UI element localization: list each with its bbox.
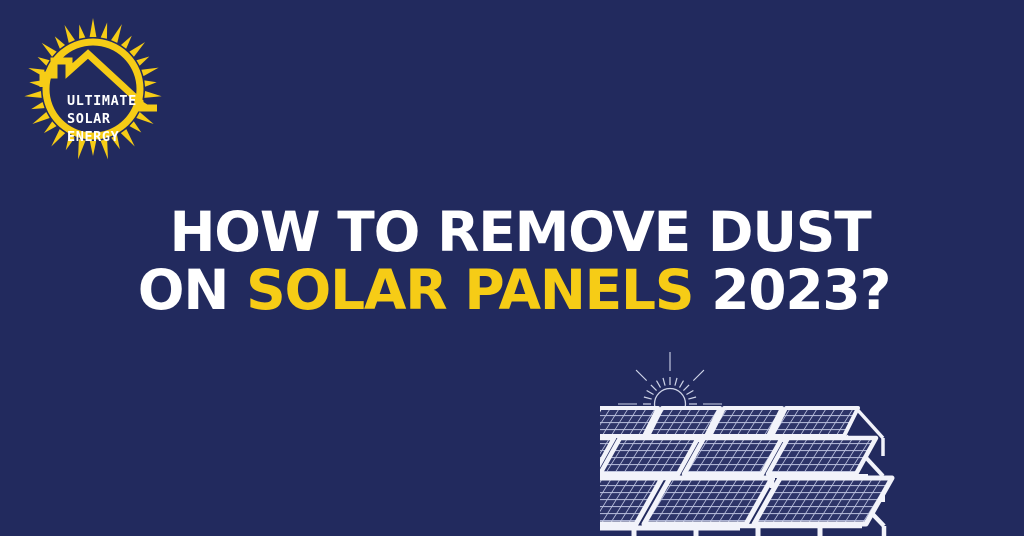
solar-panel bbox=[648, 408, 720, 436]
headline-accent: SOLAR PANELS bbox=[246, 258, 693, 322]
logo[interactable]: ULTIMATE SOLAR ENERGY bbox=[12, 16, 174, 162]
solar-panel bbox=[644, 478, 772, 524]
solar-panel bbox=[772, 408, 858, 436]
headline-line-2-post: 2023? bbox=[693, 258, 890, 322]
solar-panel bbox=[600, 438, 698, 474]
headline-line-2-pre: ON bbox=[138, 258, 246, 322]
logo-text-line2: SOLAR bbox=[67, 111, 111, 127]
solar-illustration bbox=[600, 352, 1024, 536]
logo-mark: ULTIMATE SOLAR ENERGY bbox=[12, 16, 174, 162]
headline: HOW TO REMOVE DUST ON SOLAR PANELS 2023? bbox=[0, 203, 1024, 320]
solar-illustration-svg bbox=[600, 352, 1024, 536]
headline-line-1: HOW TO REMOVE DUST bbox=[0, 203, 1024, 261]
solar-panel bbox=[684, 438, 782, 474]
headline-line-2: ON SOLAR PANELS 2023? bbox=[0, 261, 1024, 319]
panel-row-front bbox=[600, 478, 892, 536]
solar-panel bbox=[710, 408, 782, 436]
banner: ULTIMATE SOLAR ENERGY HOW TO REMOVE DUST… bbox=[0, 0, 1024, 536]
solar-panel bbox=[754, 478, 892, 524]
solar-panel bbox=[768, 438, 876, 474]
logo-text-line1: ULTIMATE bbox=[67, 93, 137, 109]
logo-text-line3: ENERGY bbox=[67, 129, 120, 145]
